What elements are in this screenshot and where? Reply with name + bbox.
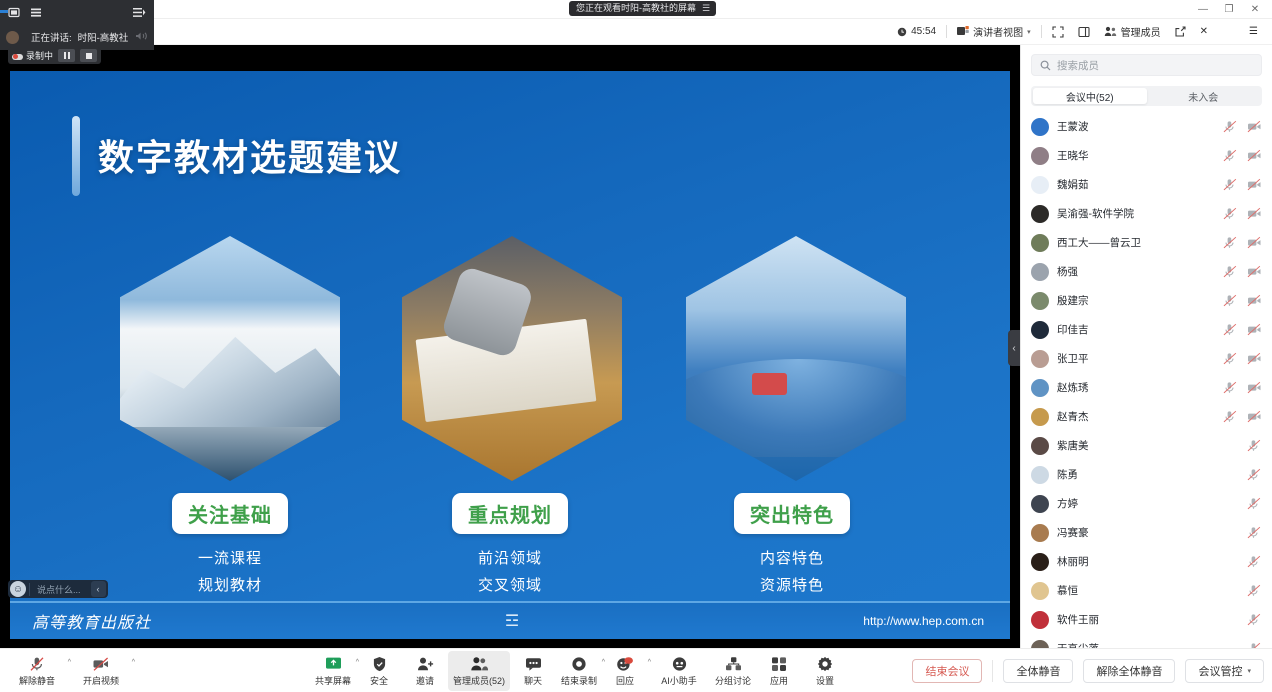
participant-row[interactable]: 杨强 bbox=[1021, 257, 1272, 286]
avatar bbox=[1031, 611, 1049, 629]
camera-off-icon[interactable] bbox=[1247, 236, 1260, 249]
manage-members-toolbar-button[interactable]: 管理成员 bbox=[1097, 22, 1168, 42]
slide-column-badge: 关注基础 bbox=[172, 493, 288, 534]
bottom-bar-label: 解除静音 bbox=[19, 674, 55, 687]
participant-name: 赵炼琇 bbox=[1057, 380, 1215, 395]
participant-name: 印佳吉 bbox=[1057, 322, 1215, 337]
chevron-down-icon: ▾ bbox=[1247, 667, 1251, 675]
camera-off-icon[interactable] bbox=[1247, 352, 1260, 365]
participants-panel: 搜索成员 会议中(52) 未入会 王蒙波 王晓华 魏娟茹 吴渝强-软件学院 bbox=[1020, 45, 1272, 648]
participant-actions bbox=[1247, 555, 1264, 568]
search-members-placeholder: 搜索成员 bbox=[1057, 58, 1099, 73]
recording-label: 录制中 bbox=[26, 49, 53, 62]
participant-name: 冯赛豪 bbox=[1057, 525, 1239, 540]
participant-actions bbox=[1247, 468, 1264, 481]
avatar bbox=[1031, 524, 1049, 542]
hexagon-image-mountain bbox=[120, 236, 340, 481]
cloud-record-icon bbox=[12, 52, 23, 60]
chevron-left-icon[interactable]: ‹ bbox=[91, 581, 106, 597]
participant-row[interactable]: 王蒙波 bbox=[1021, 112, 1272, 141]
participant-actions bbox=[1223, 323, 1264, 336]
bottom-bar-gear[interactable]: 设置 bbox=[802, 651, 848, 691]
maximize-icon[interactable]: ❐ bbox=[1216, 0, 1242, 19]
invite-icon bbox=[417, 655, 434, 672]
participant-actions bbox=[1247, 613, 1264, 626]
search-icon bbox=[1040, 60, 1051, 71]
camera-off-icon bbox=[92, 655, 110, 672]
toolbar-divider-2 bbox=[1041, 25, 1042, 38]
participant-row[interactable]: 林丽明 bbox=[1021, 547, 1272, 576]
chat-icon bbox=[525, 655, 542, 672]
bottom-bar-label: 结束录制 bbox=[561, 674, 597, 687]
participant-row[interactable]: 魏娟茹 bbox=[1021, 170, 1272, 199]
participant-name: 软件王丽 bbox=[1057, 612, 1239, 627]
publisher-emblem-icon: ☲ bbox=[504, 611, 520, 631]
participant-actions bbox=[1223, 120, 1264, 133]
mic-muted-icon bbox=[29, 655, 45, 672]
participant-actions bbox=[1223, 265, 1264, 278]
participant-actions bbox=[1223, 178, 1264, 191]
bottom-bar-label: 共享屏幕 bbox=[315, 674, 351, 687]
avatar bbox=[1031, 437, 1049, 455]
slide-bullet: 内容特色 bbox=[642, 546, 942, 573]
members-icon bbox=[470, 655, 488, 672]
participant-actions bbox=[1247, 497, 1264, 510]
mic-level-icon bbox=[134, 31, 150, 44]
quick-chat-input[interactable]: 说点什么... bbox=[29, 583, 91, 596]
mic-muted-icon[interactable] bbox=[1247, 497, 1260, 510]
slide-bullet: 资源特色 bbox=[642, 573, 942, 600]
bottom-bar-label: 管理成员(52) bbox=[453, 674, 505, 687]
avatar bbox=[1031, 292, 1049, 310]
minimize-icon[interactable]: — bbox=[1190, 0, 1216, 19]
participant-name: 魏娟茹 bbox=[1057, 177, 1215, 192]
camera-off-icon[interactable] bbox=[1247, 178, 1260, 191]
avatar bbox=[1031, 205, 1049, 223]
avatar bbox=[1031, 147, 1049, 165]
reaction-icon bbox=[616, 655, 634, 672]
meeting-control-button[interactable]: 会议管控 ▾ bbox=[1185, 659, 1264, 683]
view-mode-label: 演讲者视图 bbox=[973, 24, 1023, 39]
participant-name: 殷建宗 bbox=[1057, 293, 1215, 308]
bottom-bar-shield[interactable]: 安全 bbox=[356, 651, 402, 691]
participant-actions bbox=[1247, 526, 1264, 539]
participant-row[interactable]: 西工大——曾云卫 bbox=[1021, 228, 1272, 257]
screen-share-icon bbox=[325, 655, 342, 672]
participant-row[interactable]: 冯赛豪 bbox=[1021, 518, 1272, 547]
bottom-bar-screen-share[interactable]: 共享屏幕 ^ bbox=[310, 651, 356, 691]
screenshare-notice-text: 您正在观看时阳-高教社的屏幕 bbox=[576, 1, 696, 16]
avatar bbox=[1031, 495, 1049, 513]
bottom-center-controls: 共享屏幕 ^ 安全 邀请 管理成员(52) 聊天 结束录制 ^ 回应 ^ AI小… bbox=[310, 649, 848, 692]
toolbar-divider bbox=[946, 25, 947, 38]
chevron-down-icon: ▾ bbox=[1027, 28, 1031, 36]
pause-recording-button[interactable] bbox=[58, 49, 75, 62]
participant-actions bbox=[1223, 410, 1264, 423]
participant-actions bbox=[1223, 352, 1264, 365]
participant-actions bbox=[1247, 584, 1264, 597]
mic-muted-icon[interactable] bbox=[1223, 352, 1236, 365]
slide-bullet: 前沿领域 bbox=[360, 546, 660, 573]
avatar bbox=[1031, 553, 1049, 571]
chevron-up-icon[interactable]: ^ bbox=[132, 659, 135, 666]
participant-name: 赵青杰 bbox=[1057, 409, 1215, 424]
recording-bar: 录制中 bbox=[8, 47, 101, 64]
screenshare-pill-menu-icon[interactable]: ☰ bbox=[702, 1, 709, 16]
camera-off-icon[interactable] bbox=[1247, 207, 1260, 220]
popout-icon bbox=[1175, 26, 1186, 37]
avatar bbox=[1031, 263, 1049, 281]
divider bbox=[992, 660, 993, 682]
record-icon bbox=[571, 655, 587, 672]
mic-muted-icon[interactable] bbox=[1247, 468, 1260, 481]
participant-name: 慕恒 bbox=[1057, 583, 1239, 598]
tab-not-joined[interactable]: 未入会 bbox=[1147, 88, 1261, 104]
shared-screen-stage: 数字教材选题建议 关注基础 一流课程 规划教材 教学成果 重点规划 bbox=[0, 45, 1020, 648]
meeting-toolbar: 45:54 演讲者视图 ▾ bbox=[0, 19, 1272, 45]
participant-actions bbox=[1223, 149, 1264, 162]
avatar bbox=[6, 31, 19, 44]
mic-muted-icon[interactable] bbox=[1247, 555, 1260, 568]
avatar bbox=[1031, 118, 1049, 136]
camera-off-icon[interactable] bbox=[1247, 323, 1260, 336]
bottom-bar-label: 邀请 bbox=[416, 674, 434, 687]
participant-row[interactable]: 陈勇 bbox=[1021, 460, 1272, 489]
breakout-rooms-icon bbox=[725, 655, 742, 672]
participant-actions bbox=[1223, 207, 1264, 220]
popout-button[interactable] bbox=[1168, 22, 1193, 42]
participant-name: 王晓华 bbox=[1057, 148, 1215, 163]
camera-off-icon[interactable] bbox=[1247, 265, 1260, 278]
participant-row[interactable]: 王晓华 bbox=[1021, 141, 1272, 170]
bottom-bar-label: 开启视频 bbox=[83, 674, 119, 687]
slide-bullet: 交叉领域 bbox=[360, 573, 660, 600]
participant-name: 杨强 bbox=[1057, 264, 1215, 279]
participant-row[interactable]: 赵炼琇 bbox=[1021, 373, 1272, 402]
meeting-bottom-bar: 解除静音 ^ 开启视频 ^ 共享屏幕 ^ 安全 邀请 管理成员(52) 聊天 结… bbox=[0, 648, 1272, 692]
screenshare-notice-pill: 您正在观看时阳-高教社的屏幕 ☰ bbox=[569, 1, 716, 16]
mic-muted-icon[interactable] bbox=[1223, 178, 1236, 191]
mic-muted-icon[interactable] bbox=[1247, 613, 1260, 626]
mic-muted-icon[interactable] bbox=[1223, 120, 1236, 133]
participant-row[interactable]: 张卫平 bbox=[1021, 344, 1272, 373]
quick-chat-bar: ☺ 说点什么... ‹ bbox=[8, 580, 108, 598]
mic-muted-icon[interactable] bbox=[1223, 236, 1236, 249]
floating-panel-controls bbox=[0, 0, 154, 24]
bottom-bar-label: 聊天 bbox=[524, 674, 542, 687]
mute-all-button[interactable]: 全体静音 bbox=[1003, 659, 1073, 683]
participant-row[interactable]: 紫唐美 bbox=[1021, 431, 1272, 460]
camera-off-icon[interactable] bbox=[1247, 381, 1260, 394]
shield-icon bbox=[372, 655, 387, 672]
bottom-bar-label: AI小助手 bbox=[661, 674, 697, 687]
members-icon bbox=[1104, 26, 1117, 37]
bottom-bar-members[interactable]: 管理成员(52) bbox=[448, 651, 510, 691]
mic-muted-icon[interactable] bbox=[1223, 294, 1236, 307]
bottom-bar-chat[interactable]: 聊天 bbox=[510, 651, 556, 691]
speaking-name: 时阳-高教社 bbox=[78, 30, 129, 44]
bottom-bar-invite[interactable]: 邀请 bbox=[402, 651, 448, 691]
speaking-label: 正在讲话: bbox=[31, 30, 72, 44]
participant-row[interactable]: 方婷 bbox=[1021, 489, 1272, 518]
participant-name: 张卫平 bbox=[1057, 351, 1215, 366]
bottom-bar-camera-off[interactable]: 开启视频 ^ bbox=[70, 651, 132, 691]
mic-muted-icon[interactable] bbox=[1223, 410, 1236, 423]
ai-assistant-icon bbox=[671, 655, 688, 672]
bottom-bar-label: 分组讨论 bbox=[715, 674, 751, 687]
participant-actions bbox=[1223, 236, 1264, 249]
status-dot bbox=[0, 10, 8, 13]
meeting-window: 您正在观看时阳-高教社的屏幕 ☰ — ❐ ✕ 45:54 演讲者视图 ▾ bbox=[0, 0, 1272, 692]
avatar bbox=[1031, 408, 1049, 426]
slide-column-badge: 重点规划 bbox=[452, 493, 568, 534]
participant-list[interactable]: 王蒙波 王晓华 魏娟茹 吴渝强-软件学院 西工大——曾云卫 杨强 bbox=[1021, 112, 1272, 652]
avatar bbox=[1031, 234, 1049, 252]
participant-row[interactable]: 赵青杰 bbox=[1021, 402, 1272, 431]
participant-row[interactable]: 软件王丽 bbox=[1021, 605, 1272, 634]
bottom-bar-ai-assistant[interactable]: AI小助手 bbox=[648, 651, 710, 691]
smiley-icon[interactable]: ☺ bbox=[10, 581, 26, 597]
publisher-url: http://www.hep.com.cn bbox=[863, 614, 984, 628]
bottom-bar-breakout-rooms[interactable]: 分组讨论 bbox=[710, 651, 756, 691]
end-meeting-button[interactable]: 结束会议 bbox=[912, 659, 982, 683]
speaker-view-icon bbox=[957, 26, 969, 37]
avatar bbox=[1031, 582, 1049, 600]
search-members-field[interactable]: 搜索成员 bbox=[1031, 54, 1262, 76]
avatar bbox=[1031, 176, 1049, 194]
participant-row[interactable]: 印佳吉 bbox=[1021, 315, 1272, 344]
camera-off-icon[interactable] bbox=[1247, 410, 1260, 423]
bottom-bar-apps[interactable]: 应用 bbox=[756, 651, 802, 691]
participant-actions bbox=[1247, 439, 1264, 452]
slide-column-badge: 突出特色 bbox=[734, 493, 850, 534]
floating-speaker-panel: 正在讲话: 时阳-高教社 bbox=[0, 0, 154, 50]
mic-muted-icon[interactable] bbox=[1223, 381, 1236, 394]
toolbar-menu-button[interactable]: ☰ bbox=[1241, 22, 1266, 42]
avatar bbox=[1031, 466, 1049, 484]
meeting-control-label: 会议管控 bbox=[1198, 663, 1242, 679]
slide-hexagon-images bbox=[10, 236, 1010, 481]
recording-status: 录制中 bbox=[12, 49, 53, 62]
mic-muted-icon[interactable] bbox=[1247, 526, 1260, 539]
manage-members-toolbar-label: 管理成员 bbox=[1121, 24, 1161, 39]
participant-actions bbox=[1223, 294, 1264, 307]
split-view-icon bbox=[1078, 26, 1090, 38]
fullscreen-button[interactable] bbox=[1045, 22, 1071, 42]
apps-icon bbox=[771, 655, 787, 672]
bottom-bar-label: 设置 bbox=[816, 674, 834, 687]
camera-off-icon[interactable] bbox=[1247, 120, 1260, 133]
clock-icon bbox=[897, 27, 907, 37]
split-view-button[interactable] bbox=[1071, 22, 1097, 42]
meeting-timer: 45:54 bbox=[890, 22, 943, 42]
slide-bullet: 规划教材 bbox=[80, 573, 380, 600]
mic-muted-icon[interactable] bbox=[1223, 323, 1236, 336]
participant-name: 紫唐美 bbox=[1057, 438, 1239, 453]
view-mode-selector[interactable]: 演讲者视图 ▾ bbox=[950, 22, 1038, 42]
bottom-bar-mic-muted[interactable]: 解除静音 ^ bbox=[6, 651, 68, 691]
participant-row[interactable]: 殷建宗 bbox=[1021, 286, 1272, 315]
bottom-left-controls: 解除静音 ^ 开启视频 ^ bbox=[6, 649, 132, 692]
participants-tabs: 会议中(52) 未入会 bbox=[1031, 86, 1262, 106]
close-icon[interactable]: ✕ bbox=[1242, 0, 1268, 19]
meeting-timer-value: 45:54 bbox=[911, 26, 936, 37]
fullscreen-icon bbox=[1052, 26, 1064, 38]
bottom-bar-record[interactable]: 结束录制 ^ bbox=[556, 651, 602, 691]
bottom-bar-reaction[interactable]: 回应 ^ bbox=[602, 651, 648, 691]
avatar bbox=[1031, 350, 1049, 368]
avatar bbox=[1031, 379, 1049, 397]
bottom-bar-label: 安全 bbox=[370, 674, 388, 687]
bottom-right-controls: 结束会议 全体静音 解除全体静音 会议管控 ▾ bbox=[912, 649, 1264, 692]
participant-actions bbox=[1223, 381, 1264, 394]
participant-row[interactable]: 慕恒 bbox=[1021, 576, 1272, 605]
camera-off-icon[interactable] bbox=[1247, 294, 1260, 307]
hexagon-image-writing bbox=[402, 236, 622, 481]
slide-title-accent-bar bbox=[72, 116, 80, 196]
slide-title: 数字教材选题建议 bbox=[98, 129, 402, 181]
window-controls: — ❐ ✕ bbox=[1190, 0, 1268, 19]
mic-muted-icon[interactable] bbox=[1223, 265, 1236, 278]
slide-bullet: 一流课程 bbox=[80, 546, 380, 573]
bottom-bar-label: 应用 bbox=[770, 674, 788, 687]
publisher-logo: 高等教育出版社 bbox=[32, 609, 151, 633]
participant-name: 王蒙波 bbox=[1057, 119, 1215, 134]
participant-name: 西工大——曾云卫 bbox=[1057, 235, 1215, 250]
tab-in-meeting[interactable]: 会议中(52) bbox=[1033, 88, 1147, 104]
mic-muted-icon[interactable] bbox=[1223, 207, 1236, 220]
unmute-all-button[interactable]: 解除全体静音 bbox=[1083, 659, 1175, 683]
camera-off-icon[interactable] bbox=[1247, 149, 1260, 162]
mic-muted-icon[interactable] bbox=[1247, 584, 1260, 597]
participant-name: 方婷 bbox=[1057, 496, 1239, 511]
avatar bbox=[1031, 321, 1049, 339]
hexagon-image-road bbox=[686, 236, 906, 481]
slide-footer: 高等教育出版社 ☲ http://www.hep.com.cn bbox=[10, 601, 1010, 639]
mic-muted-icon[interactable] bbox=[1223, 149, 1236, 162]
panel-expand-icon[interactable] bbox=[133, 5, 146, 23]
close-share-view-button[interactable]: ✕ bbox=[1193, 22, 1215, 42]
video-layout-icon[interactable] bbox=[8, 7, 20, 18]
bottom-bar-label: 回应 bbox=[616, 674, 634, 687]
participant-name: 吴渝强-软件学院 bbox=[1057, 206, 1215, 221]
participant-row[interactable]: 吴渝强-软件学院 bbox=[1021, 199, 1272, 228]
gear-icon bbox=[817, 655, 833, 672]
panel-collapse-handle[interactable]: ‹ bbox=[1008, 330, 1020, 366]
presentation-slide: 数字教材选题建议 关注基础 一流课程 规划教材 教学成果 重点规划 bbox=[10, 71, 1010, 639]
participant-name: 陈勇 bbox=[1057, 467, 1239, 482]
list-view-icon[interactable] bbox=[30, 7, 42, 18]
stop-recording-button[interactable] bbox=[80, 49, 97, 62]
window-titlebar: 您正在观看时阳-高教社的屏幕 ☰ — ❐ ✕ bbox=[0, 0, 1272, 19]
participant-name: 林丽明 bbox=[1057, 554, 1239, 569]
mic-muted-icon[interactable] bbox=[1247, 439, 1260, 452]
